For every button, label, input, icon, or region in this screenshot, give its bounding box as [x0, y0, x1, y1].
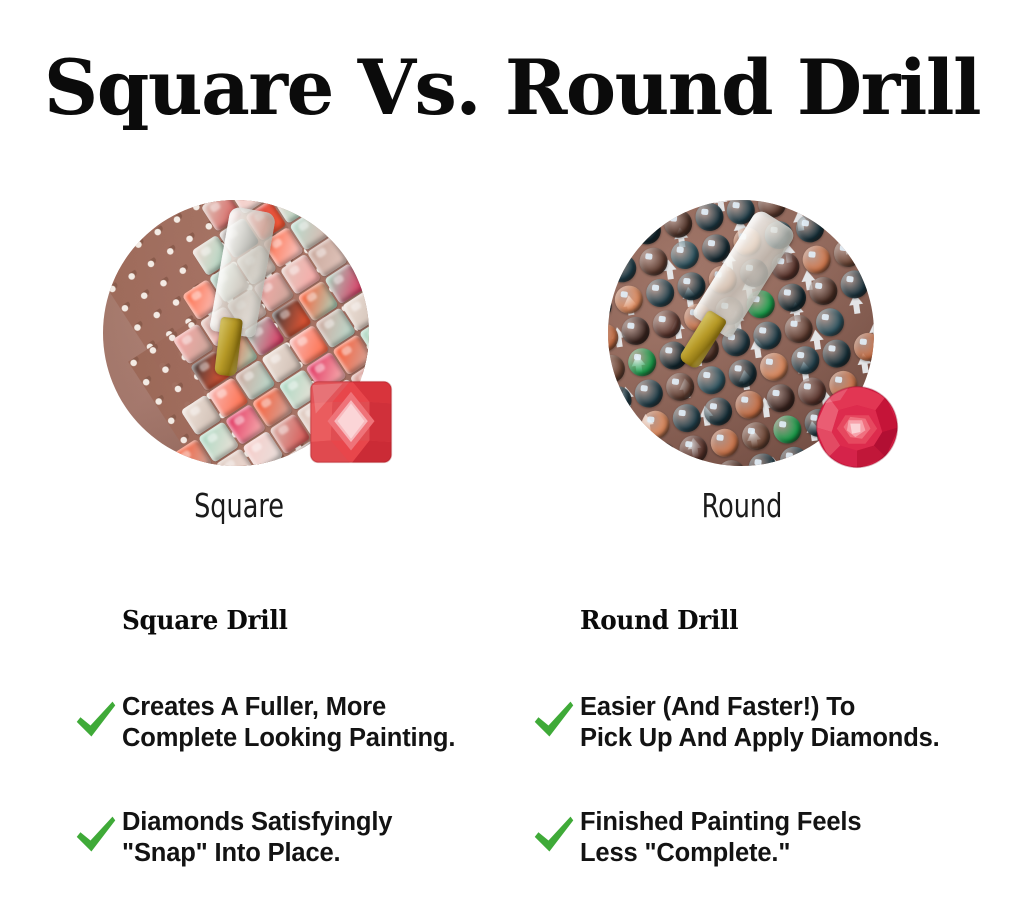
bead [782, 312, 815, 345]
square-photo-panel [95, 190, 395, 480]
bead [733, 388, 766, 421]
bead [608, 415, 641, 448]
bead [655, 200, 688, 209]
bead [639, 408, 672, 441]
bead [777, 444, 810, 466]
bead [856, 200, 874, 232]
bead [668, 238, 701, 271]
bead [608, 321, 621, 354]
bead [693, 200, 726, 233]
square-drill-column: Square Drill Creates A Fuller, More Comp… [62, 606, 532, 869]
bead [757, 350, 790, 383]
bead [820, 337, 853, 370]
bead [695, 364, 728, 397]
round-faceted-gem [815, 385, 899, 469]
bead [764, 382, 797, 415]
square-photo-caption: Square [110, 486, 368, 526]
bead [771, 413, 804, 446]
bead [787, 200, 820, 214]
bead [632, 377, 665, 410]
bead [608, 453, 616, 466]
bead [746, 451, 779, 466]
list-item-text: Creates A Fuller, More Complete Looking … [122, 692, 532, 754]
round-drill-column: Round Drill Easier (And Faster!) To Pick… [520, 606, 990, 869]
bead [650, 308, 683, 341]
bead [739, 420, 772, 453]
bead [677, 433, 710, 466]
bead [624, 200, 657, 216]
bead [612, 283, 645, 316]
bead [646, 440, 679, 466]
square-drill-bullet-list: Creates A Fuller, More Complete Looking … [62, 692, 532, 869]
bead [644, 276, 677, 309]
bead [686, 200, 719, 202]
list-item: Easier (And Faster!) To Pick Up And Appl… [520, 692, 990, 754]
bead [751, 319, 784, 352]
list-item: Diamonds Satisfyingly "Snap" Into Place. [62, 807, 532, 869]
bead [608, 200, 626, 222]
list-item: Creates A Fuller, More Complete Looking … [62, 692, 532, 754]
bead [670, 402, 703, 435]
bead [715, 458, 748, 466]
square-faceted-gem [309, 380, 393, 464]
square-drill-heading: Square Drill [122, 606, 512, 636]
bead [608, 384, 634, 417]
bead [831, 236, 864, 269]
bead [683, 464, 716, 466]
bead [608, 252, 639, 285]
check-icon [532, 698, 576, 742]
bead [608, 352, 627, 385]
list-item-text: Finished Painting Feels Less "Complete." [580, 807, 990, 869]
bead [708, 426, 741, 459]
round-drill-heading: Round Drill [580, 606, 970, 636]
bead [869, 261, 874, 294]
bead [818, 200, 851, 207]
bead [662, 207, 695, 240]
bead [789, 344, 822, 377]
round-photo-panel [600, 190, 900, 480]
bead [614, 446, 647, 466]
check-icon [532, 813, 576, 857]
list-item-text: Easier (And Faster!) To Pick Up And Appl… [580, 692, 990, 754]
bead [863, 230, 874, 263]
bead [726, 357, 759, 390]
bead [664, 370, 697, 403]
round-drill-bullet-list: Easier (And Faster!) To Pick Up And Appl… [520, 692, 990, 869]
list-item: Finished Painting Feels Less "Complete." [520, 807, 990, 869]
bead [807, 274, 840, 307]
bead [626, 346, 659, 379]
bead [701, 395, 734, 428]
page-title: Square Vs. Round Drill [5, 44, 1019, 132]
bead [608, 220, 632, 253]
bead [851, 330, 874, 363]
bead [845, 299, 874, 332]
infographic-page: { "title": "Square Vs. Round Drill", "co… [0, 0, 1024, 923]
bead [630, 214, 663, 247]
list-item-text: Diamonds Satisfyingly "Snap" Into Place. [122, 807, 532, 869]
bead [825, 205, 858, 238]
bead [793, 212, 826, 245]
bead [775, 281, 808, 314]
bead [608, 290, 614, 323]
bead [619, 314, 652, 347]
bead [800, 243, 833, 276]
bead [608, 422, 609, 455]
bead [637, 245, 670, 278]
bead [838, 268, 871, 301]
round-photo-caption: Round [613, 486, 871, 526]
check-icon [74, 813, 118, 857]
check-icon [74, 698, 118, 742]
bead [813, 306, 846, 339]
